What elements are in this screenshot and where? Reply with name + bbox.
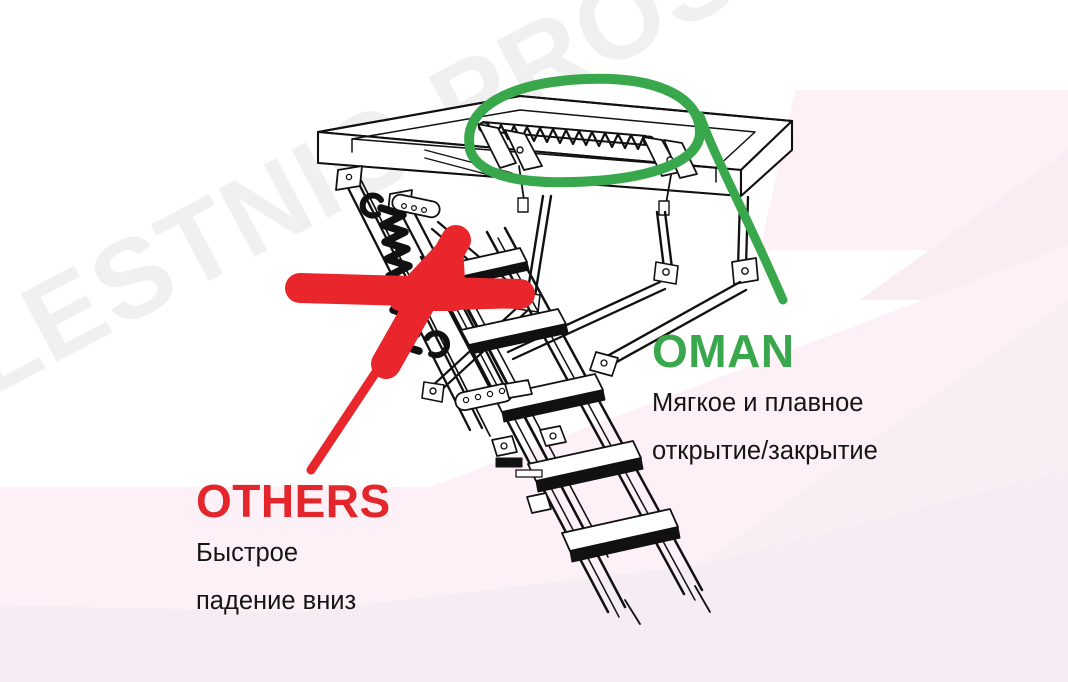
others-subline-1: Быстрое <box>196 534 526 573</box>
others-subline-2: падение вниз <box>196 582 526 621</box>
oman-callout: OMAN Мягкое и плавное открытие/закрытие <box>652 328 982 470</box>
oman-subline-2: открытие/закрытие <box>652 432 982 471</box>
others-headline: OTHERS <box>196 478 526 525</box>
oman-headline: OMAN <box>652 328 982 375</box>
oman-subline-1: Мягкое и плавное <box>652 384 982 423</box>
illustration-canvas: LESTNIC-PROSTO.RU <box>0 0 1068 682</box>
others-callout: OTHERS Быстрое падение вниз <box>196 478 526 620</box>
